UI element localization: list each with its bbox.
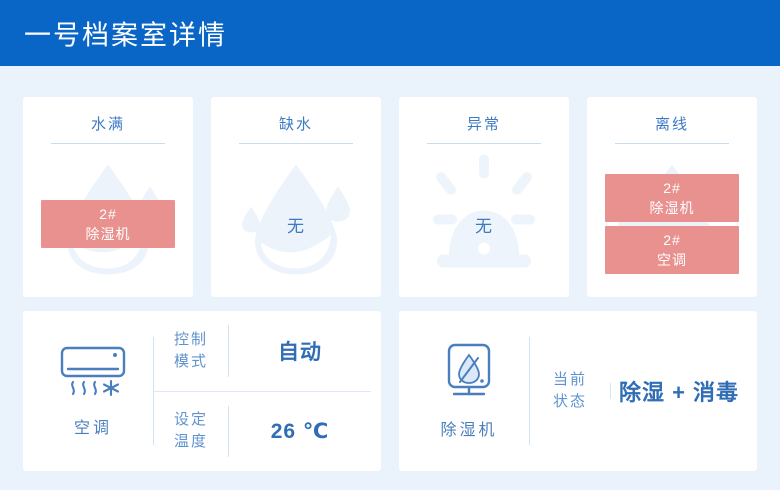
status-none-text: 无 [287, 212, 305, 237]
device-card-row: 空调 控制 模式 自动 设定 温度 26 ℃ [23, 311, 757, 471]
device-field-row: 当前 状态 除湿 + 消毒 [530, 369, 747, 413]
device-field-label: 当前 状态 [530, 369, 610, 413]
title-divider [615, 143, 729, 144]
status-card-water-full[interactable]: 水满 2# 除湿机 [23, 97, 193, 297]
label-line-1: 控制 [154, 329, 228, 351]
status-none-text: 无 [475, 212, 493, 237]
air-conditioner-icon [57, 344, 129, 405]
status-card-offline[interactable]: 离线 2# 除湿机 2# 空调 [587, 97, 757, 297]
device-field-list: 控制 模式 自动 设定 温度 26 ℃ [154, 311, 371, 471]
status-card-title: 水满 [23, 97, 193, 143]
status-tag-line-2: 空调 [605, 250, 739, 270]
device-card-air-conditioner[interactable]: 空调 控制 模式 自动 设定 温度 26 ℃ [23, 311, 381, 471]
status-tag[interactable]: 2# 空调 [605, 226, 739, 274]
device-field-label: 控制 模式 [154, 329, 228, 373]
label-line-2: 状态 [530, 391, 610, 413]
device-card-dehumidifier[interactable]: 除湿机 当前 状态 除湿 + 消毒 [399, 311, 757, 471]
status-card-body: 2# 除湿机 2# 空调 [587, 151, 757, 297]
title-divider [427, 143, 541, 144]
status-tag-line-1: 2# [41, 204, 175, 224]
title-divider [51, 143, 165, 144]
status-tag-list: 2# 除湿机 [23, 200, 193, 248]
status-tag-list: 2# 除湿机 2# 空调 [587, 174, 757, 274]
device-identity: 除湿机 [409, 342, 529, 440]
status-card-row: 水满 2# 除湿机 缺水 [23, 97, 757, 297]
page-title: 一号档案室详情 [24, 14, 227, 53]
dehumidifier-icon [438, 342, 500, 407]
device-identity: 空调 [33, 344, 153, 438]
label-line-2: 温度 [154, 431, 228, 453]
page-header: 一号档案室详情 [0, 0, 780, 66]
label-line-2: 模式 [154, 351, 228, 373]
device-field-row: 设定 温度 26 ℃ [154, 391, 371, 472]
status-card-title: 异常 [399, 97, 569, 143]
status-card-body: 2# 除湿机 [23, 151, 193, 297]
device-name: 除湿机 [440, 416, 497, 440]
device-field-value: 自动 [229, 336, 371, 366]
label-line-1: 当前 [530, 369, 610, 391]
status-tag[interactable]: 2# 除湿机 [605, 174, 739, 222]
status-card-body: 无 [399, 151, 569, 297]
status-tag-line-1: 2# [605, 230, 739, 250]
device-field-value: 26 ℃ [229, 419, 371, 444]
status-card-title: 离线 [587, 97, 757, 143]
device-name: 空调 [74, 414, 112, 438]
status-tag-line-2: 除湿机 [605, 198, 739, 218]
status-tag-line-2: 除湿机 [41, 224, 175, 244]
status-tag-line-1: 2# [605, 178, 739, 198]
label-line-1: 设定 [154, 409, 228, 431]
status-card-body: 无 [211, 151, 381, 297]
device-field-row: 控制 模式 自动 [154, 311, 371, 391]
status-card-water-shortage[interactable]: 缺水 无 [211, 97, 381, 297]
status-tag[interactable]: 2# 除湿机 [41, 200, 175, 248]
device-field-label: 设定 温度 [154, 409, 228, 453]
title-divider [239, 143, 353, 144]
status-card-abnormal[interactable]: 异常 无 [399, 97, 569, 297]
device-field-value: 除湿 + 消毒 [611, 375, 747, 407]
status-card-title: 缺水 [211, 97, 381, 143]
